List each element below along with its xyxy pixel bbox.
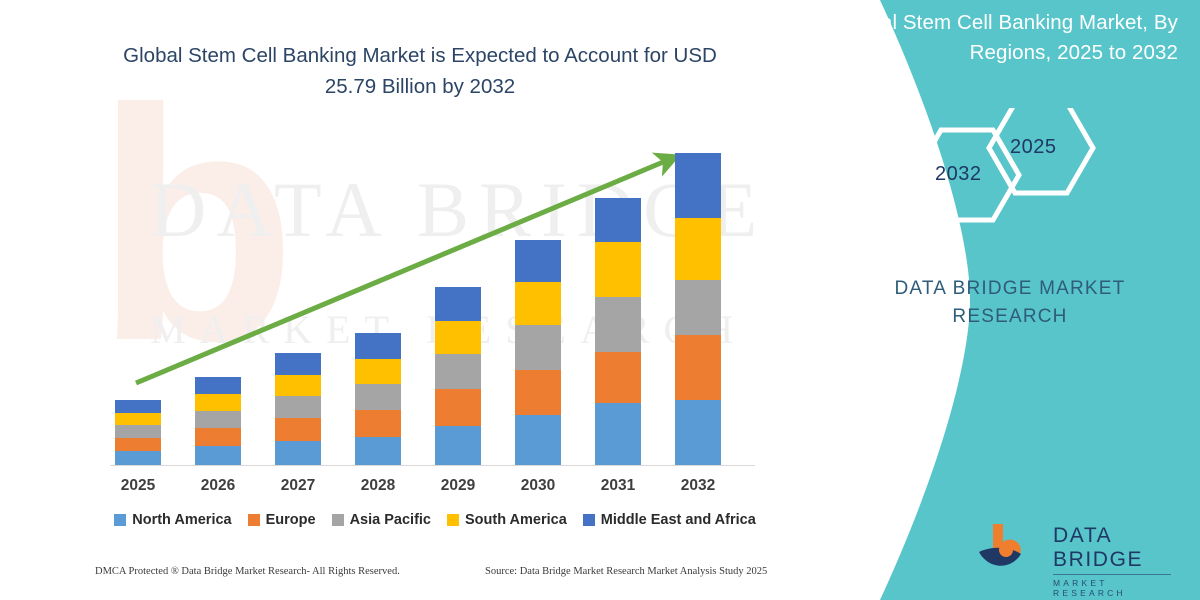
bar-segment [435, 287, 481, 321]
bar-segment [195, 394, 241, 411]
bar-segment [195, 377, 241, 394]
bar-segment [515, 325, 561, 370]
bar-segment [435, 389, 481, 426]
bar-2030 [515, 240, 561, 465]
legend-swatch-icon [114, 514, 126, 526]
bar-segment [355, 359, 401, 384]
bar-segment [195, 428, 241, 446]
bar-2029 [435, 287, 481, 465]
bar-segment [515, 240, 561, 282]
x-axis-label-2030: 2030 [498, 477, 578, 495]
x-axis-label-2027: 2027 [258, 477, 338, 495]
legend-label: Europe [266, 512, 316, 528]
x-axis-label-2032: 2032 [658, 477, 738, 495]
hexagon-label-2032: 2032 [935, 163, 982, 186]
bar-2031 [595, 198, 641, 465]
legend-label: South America [465, 512, 567, 528]
bar-segment [275, 353, 321, 375]
logo-name: DATA BRIDGE [1053, 524, 1180, 572]
bar-segment [595, 403, 641, 465]
bar-segment [355, 437, 401, 465]
legend-item[interactable]: Asia Pacific [332, 512, 431, 528]
bar-segment [675, 335, 721, 400]
legend-label: North America [132, 512, 231, 528]
bar-2028 [355, 333, 401, 465]
bar-segment [435, 354, 481, 389]
company-logo: DATA BRIDGE MARKET RESEARCH [975, 518, 1180, 580]
bar-segment [435, 321, 481, 354]
legend-item[interactable]: North America [114, 512, 231, 528]
x-axis-label-2029: 2029 [418, 477, 498, 495]
bar-segment [275, 418, 321, 441]
bar-segment [275, 375, 321, 396]
bar-segment [275, 396, 321, 418]
legend-swatch-icon [447, 514, 459, 526]
legend-item[interactable]: Europe [248, 512, 316, 528]
legend-swatch-icon [332, 514, 344, 526]
bar-segment [195, 411, 241, 428]
brand-name: DATA BRIDGE MARKET RESEARCH [780, 275, 1200, 331]
bar-segment [275, 441, 321, 465]
x-axis-label-2028: 2028 [338, 477, 418, 495]
bar-segment [195, 446, 241, 465]
bar-segment [675, 153, 721, 218]
bar-segment [515, 370, 561, 415]
bar-segment [355, 333, 401, 359]
bar-segment [355, 384, 401, 410]
bar-segment [515, 415, 561, 465]
legend-item[interactable]: Middle East and Africa [583, 512, 756, 528]
bar-segment [595, 198, 641, 242]
x-axis-label-2025: 2025 [98, 477, 178, 495]
bar-segment [595, 297, 641, 352]
brand-panel: Global Stem Cell Banking Market, By Regi… [780, 0, 1200, 600]
bar-segment [115, 413, 161, 425]
bar-segment [675, 218, 721, 280]
chart-legend: North AmericaEuropeAsia PacificSouth Ame… [110, 512, 760, 528]
infographic-root: b DATA BRIDGE MARKET RESEARCH Global Ste… [0, 0, 1200, 600]
bar-2032 [675, 153, 721, 465]
chart-panel: b DATA BRIDGE MARKET RESEARCH Global Ste… [0, 0, 830, 600]
hexagon-shapes [885, 108, 1200, 243]
legend-label: Asia Pacific [350, 512, 431, 528]
bar-segment [115, 400, 161, 413]
x-axis-line [110, 465, 755, 466]
growth-trend-arrow [136, 160, 668, 383]
legend-swatch-icon [248, 514, 260, 526]
bar-segment [115, 451, 161, 465]
legend-label: Middle East and Africa [601, 512, 756, 528]
footer-copyright: DMCA Protected ® Data Bridge Market Rese… [95, 566, 400, 577]
panel-title: Global Stem Cell Banking Market, By Regi… [780, 8, 1200, 68]
x-axis-label-2031: 2031 [578, 477, 658, 495]
logo-text: DATA BRIDGE MARKET RESEARCH [1053, 524, 1180, 598]
bar-segment [115, 438, 161, 451]
footer-source: Source: Data Bridge Market Research Mark… [485, 566, 767, 577]
legend-swatch-icon [583, 514, 595, 526]
bar-segment [595, 352, 641, 403]
legend-item[interactable]: South America [447, 512, 567, 528]
logo-divider [1053, 574, 1171, 575]
logo-mark-icon [975, 520, 1047, 580]
bar-2025 [115, 400, 161, 465]
year-hexagons: 2032 2025 [885, 108, 1200, 243]
bar-segment [515, 282, 561, 325]
bar-segment [675, 280, 721, 335]
bar-segment [355, 410, 401, 437]
bar-segment [595, 242, 641, 297]
logo-tagline: MARKET RESEARCH [1053, 578, 1180, 598]
brand-line-1: DATA BRIDGE MARKET [820, 275, 1200, 303]
bar-segment [435, 426, 481, 465]
bar-2027 [275, 353, 321, 465]
bar-segment [675, 400, 721, 465]
x-axis-label-2026: 2026 [178, 477, 258, 495]
brand-line-2: RESEARCH [820, 303, 1200, 331]
hexagon-label-2025: 2025 [1010, 136, 1057, 159]
bar-segment [115, 425, 161, 438]
bar-2026 [195, 377, 241, 465]
stacked-bar-plot [0, 0, 830, 600]
